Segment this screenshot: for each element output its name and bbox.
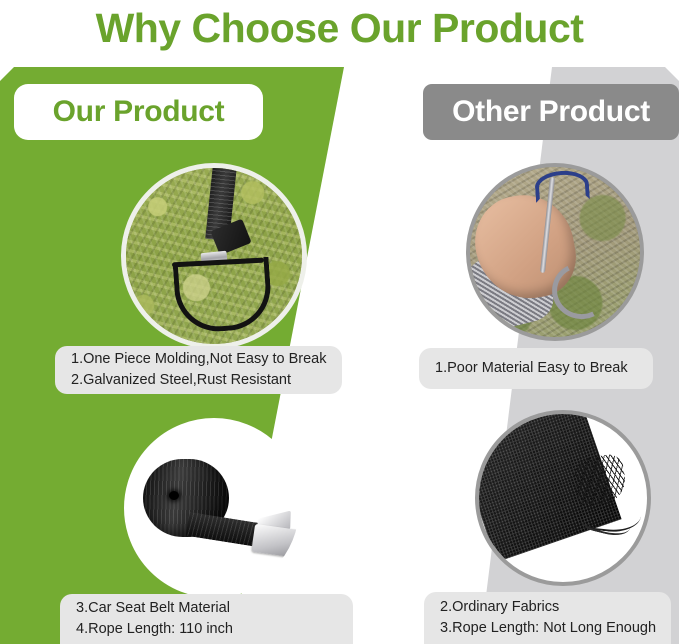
feature-line: 3.Rope Length: Not Long Enough <box>440 618 655 639</box>
page-title: Why Choose Our Product <box>0 2 679 54</box>
cam-buckle <box>251 524 302 558</box>
other-product-frayed-strap-photo <box>475 410 651 586</box>
our-product-badge-label: Our Product <box>53 95 225 129</box>
feature-line: 1.One Piece Molding,Not Easy to Break <box>71 349 326 370</box>
other-product-badge: Other Product <box>423 84 679 140</box>
feature-line: 3.Car Seat Belt Material <box>76 598 337 619</box>
our-product-strap-roll-photo <box>124 418 304 598</box>
our-product-features-bottom: 3.Car Seat Belt Material 4.Rope Length: … <box>60 594 353 644</box>
our-product-hook-photo <box>121 163 307 349</box>
feature-line: 2.Ordinary Fabrics <box>440 597 655 618</box>
other-product-hook-photo <box>466 163 644 341</box>
feature-line: 1.Poor Material Easy to Break <box>435 358 637 379</box>
feature-line: 4.Rope Length: 110 inch <box>76 619 337 640</box>
other-product-badge-label: Other Product <box>452 95 650 129</box>
feature-line: 2.Galvanized Steel,Rust Resistant <box>71 370 326 391</box>
roll-center-hole <box>169 491 179 500</box>
our-product-badge: Our Product <box>14 84 263 140</box>
our-product-features-top: 1.One Piece Molding,Not Easy to Break 2.… <box>55 346 342 394</box>
comparison-infographic: Why Choose Our Product Our Product Other… <box>0 0 679 644</box>
other-product-features-bottom: 2.Ordinary Fabrics 3.Rope Length: Not Lo… <box>424 592 671 644</box>
other-product-features-top: 1.Poor Material Easy to Break <box>419 348 653 389</box>
